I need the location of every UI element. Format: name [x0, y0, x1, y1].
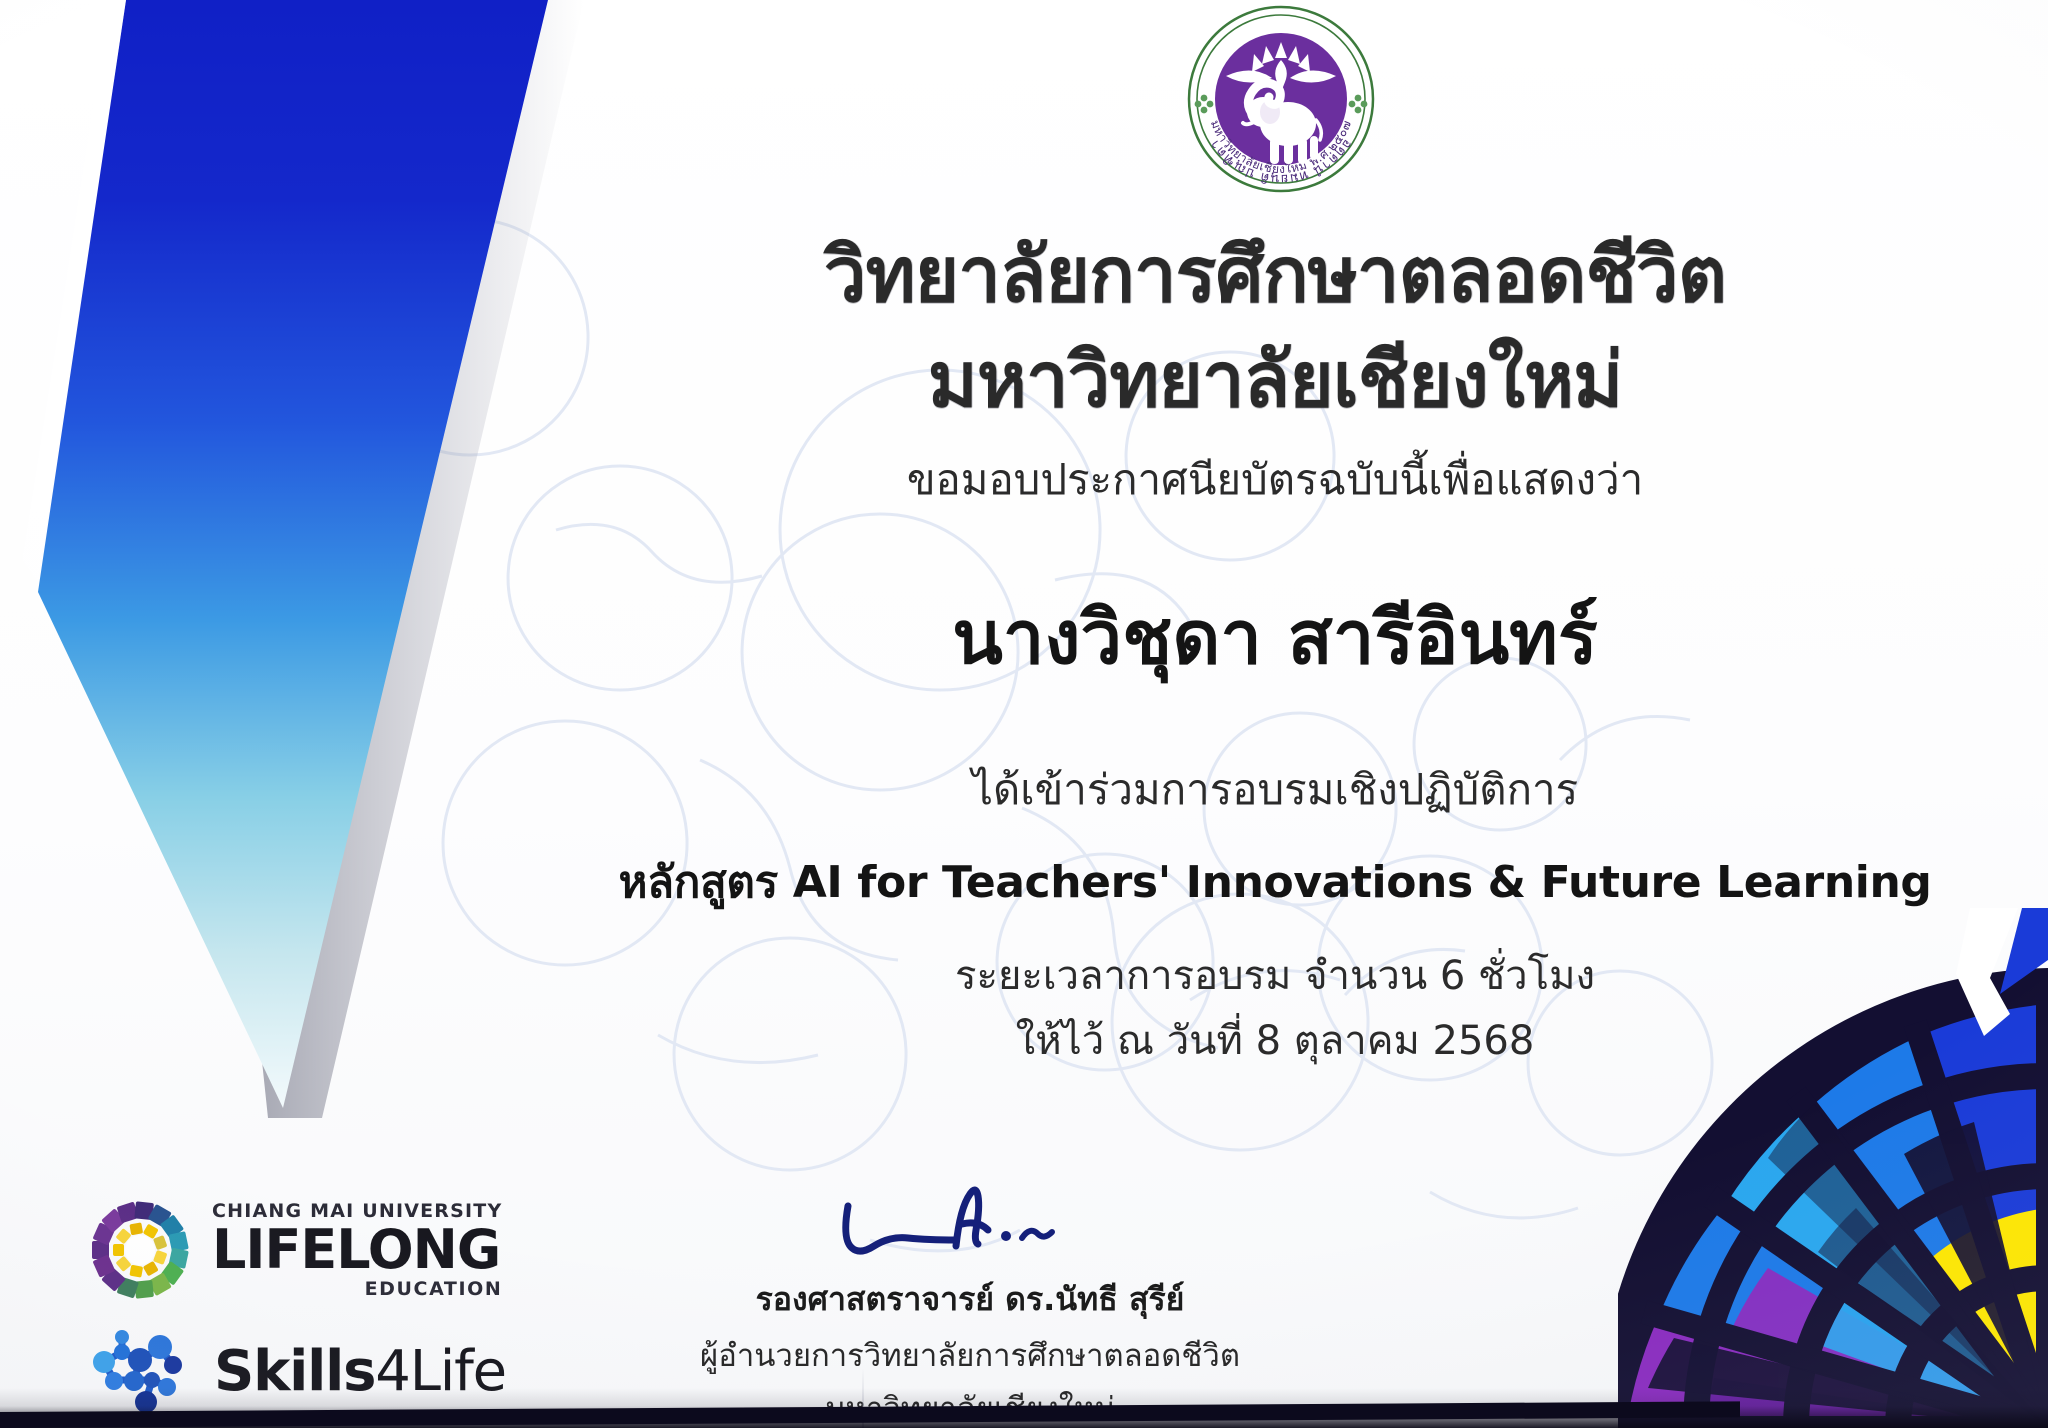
signer-role-line-1: ผู้อำนวยการวิทยาลัยการศึกษาตลอดชีวิต — [620, 1330, 1320, 1380]
lifelong-wordmark: LIFELONG — [212, 1223, 502, 1277]
lifelong-ring-icon — [88, 1198, 192, 1302]
partner-logos: CHIANG MAI UNIVERSITY LIFELONG EDUCATION — [88, 1198, 506, 1420]
issued-date: ให้ไว้ ณ วันที่ 8 ตุลาคม 2568 — [560, 1008, 1990, 1072]
title-line-1: วิทยาลัยการศึกษาตลอดชีวิต — [560, 215, 1990, 335]
skills4life-part3: Life — [410, 1339, 506, 1404]
title-line-2: มหาวิทยาลัยเชียงใหม่ — [560, 320, 1990, 440]
molecule-network-icon — [88, 1324, 192, 1420]
signer-role-line-2: มหาวิทยาลัยเชียงใหม่ — [620, 1383, 1320, 1428]
certificate-page: อตฺตานํ ทมยนฺติ ปณฺฑิตา มหาวิทยาลัยเชียง… — [0, 0, 2048, 1428]
skills4life-part1: Skills — [214, 1339, 375, 1404]
lifelong-bottom-text: EDUCATION — [212, 1280, 502, 1299]
skills4life-logo: Skills4Life — [88, 1324, 506, 1420]
lifelong-logo: CHIANG MAI UNIVERSITY LIFELONG EDUCATION — [88, 1198, 506, 1302]
signature-block: รองศาสตราจารย์ ดร.นัทธี สุรีย์ ผู้อำนวยก… — [620, 1180, 1320, 1428]
course-title: หลักสูตร AI for Teachers' Innovations & … — [560, 847, 1990, 917]
skills4life-wordmark: Skills4Life — [214, 1344, 506, 1400]
skills4life-part2: 4 — [375, 1339, 409, 1404]
activity-line: ได้เข้าร่วมการอบรมเชิงปฏิบัติการ — [560, 757, 1990, 823]
handwritten-signature-icon — [810, 1180, 1130, 1272]
signer-name: รองศาสตราจารย์ ดร.นัทธี สุรีย์ — [620, 1274, 1320, 1325]
award-subtitle: ขอมอบประกาศนียบัตรฉบับนี้เพื่อแสดงว่า — [560, 447, 1990, 513]
duration-line: ระยะเวลาการอบรม จำนวน 6 ชั่วโมง — [560, 943, 1990, 1007]
recipient-name: นางวิชุดา สารีอินทร์ — [560, 578, 1990, 696]
